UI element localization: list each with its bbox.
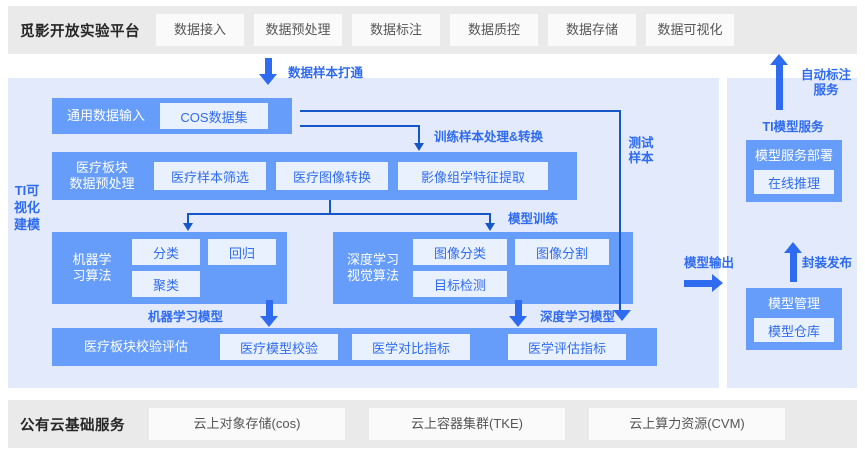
model-service-deploy-box[interactable]: 模型服务部署 在线推理: [746, 140, 842, 202]
tile-image-classification[interactable]: 图像分类: [413, 239, 507, 265]
tile-image-segmentation[interactable]: 图像分割: [515, 239, 609, 265]
connector-split-bar: [187, 213, 491, 215]
tile-regression[interactable]: 回归: [208, 239, 276, 265]
connector-test-sample-arrow: [613, 310, 631, 321]
chip-data-ingest[interactable]: 数据接入: [156, 14, 244, 46]
connector-dl-model-arrow: [509, 316, 527, 327]
tile-medical-sample-filter[interactable]: 医疗样本筛选: [154, 162, 266, 190]
connector-split-left-arrow: [183, 223, 193, 231]
ml-algorithm-label: 机器学 习算法: [52, 252, 132, 284]
connector-publish-stem: [790, 252, 797, 282]
general-data-input-box[interactable]: 通用数据输入 COS数据集: [52, 98, 292, 134]
chip-data-storage[interactable]: 数据存储: [548, 14, 636, 46]
connector-data-entry-arrow: [259, 74, 277, 85]
chip-data-preprocess[interactable]: 数据预处理: [254, 14, 342, 46]
caption-test-sample: 测试样本: [628, 136, 654, 166]
connector-test-sample-v: [619, 110, 621, 313]
connector-train-sample-h: [300, 125, 420, 127]
chip-cloud-object-storage[interactable]: 云上对象存储(cos): [149, 408, 345, 440]
general-data-input-label: 通用数据输入: [52, 108, 160, 124]
top-platform-bar: 觅影开放实验平台 数据接入 数据预处理 数据标注 数据质控 数据存储 数据可视化: [8, 6, 857, 54]
tile-medical-model-validation[interactable]: 医疗模型校验: [220, 334, 338, 360]
connector-model-output-stem: [684, 280, 712, 287]
connector-test-sample-h: [300, 110, 621, 112]
chip-data-annotation[interactable]: 数据标注: [352, 14, 440, 46]
connector-auto-label-arrow: [770, 54, 788, 65]
platform-title: 觅影开放实验平台: [8, 20, 140, 41]
tile-online-inference[interactable]: 在线推理: [754, 170, 834, 194]
ti-model-service-title: TI模型服务: [738, 120, 848, 135]
model-manage-box[interactable]: 模型管理 模型仓库: [746, 288, 842, 350]
tile-radiomics-feature-extraction[interactable]: 影像组学特征提取: [398, 162, 548, 190]
tile-medical-comparison-index[interactable]: 医学对比指标: [352, 334, 470, 360]
bottom-cloud-bar: 公有云基础服务 云上对象存储(cos) 云上容器集群(TKE) 云上算力资源(C…: [8, 400, 857, 448]
caption-model-output: 模型输出: [684, 256, 734, 271]
chip-data-quality[interactable]: 数据质控: [450, 14, 538, 46]
dl-algorithm-box[interactable]: 深度学习 视觉算法 图像分类 图像分割 目标检测: [333, 232, 633, 304]
caption-model-training: 模型训练: [508, 212, 558, 227]
tile-object-detection[interactable]: 目标检测: [413, 271, 507, 297]
medical-preprocess-label: 医疗板块 数据预处理: [52, 160, 152, 192]
connector-split-stem: [329, 200, 331, 214]
connector-model-output-arrow: [712, 274, 723, 292]
bottom-chip-list: 云上对象存储(cos) 云上容器集群(TKE) 云上算力资源(CVM): [149, 408, 785, 440]
connector-split-right-arrow: [485, 223, 495, 231]
top-chip-list: 数据接入 数据预处理 数据标注 数据质控 数据存储 数据可视化: [156, 14, 734, 46]
medical-evaluation-label: 医疗板块校验评估: [52, 339, 220, 355]
tile-model-repository[interactable]: 模型仓库: [754, 318, 834, 342]
model-service-deploy-label: 模型服务部署: [755, 148, 833, 164]
connector-train-sample-v: [418, 125, 420, 145]
ti-modeling-side-label: TI可视化建模: [14, 182, 40, 233]
caption-auto-label-service: 自动标注 服务: [792, 68, 860, 98]
medical-preprocess-box[interactable]: 医疗板块 数据预处理 医疗样本筛选 医疗图像转换 影像组学特征提取: [52, 152, 577, 200]
model-manage-label: 模型管理: [768, 296, 820, 312]
tile-classification[interactable]: 分类: [132, 239, 200, 265]
tile-medical-image-convert[interactable]: 医疗图像转换: [276, 162, 388, 190]
connector-train-sample-arrow: [414, 143, 424, 151]
cloud-services-title: 公有云基础服务: [8, 414, 125, 435]
caption-train-sample-process: 训练样本处理&转换: [434, 130, 543, 145]
medical-evaluation-box[interactable]: 医疗板块校验评估 医疗模型校验 医学对比指标 医学评估指标: [52, 328, 657, 366]
ml-algorithm-box[interactable]: 机器学 习算法 分类 回归 聚类: [52, 232, 287, 304]
connector-auto-label-stem: [776, 64, 783, 110]
caption-data-sample-link: 数据样本打通: [288, 66, 363, 81]
tile-cos-dataset[interactable]: COS数据集: [160, 103, 268, 129]
tile-clustering[interactable]: 聚类: [132, 271, 200, 297]
tile-medical-evaluation-index[interactable]: 医学评估指标: [508, 334, 626, 360]
caption-dl-model: 深度学习模型: [540, 310, 615, 325]
diagram-canvas: 觅影开放实验平台 数据接入 数据预处理 数据标注 数据质控 数据存储 数据可视化…: [0, 0, 865, 454]
dl-algorithm-label: 深度学习 视觉算法: [333, 252, 413, 284]
chip-cloud-compute-resource[interactable]: 云上算力资源(CVM): [589, 408, 785, 440]
connector-ml-model-arrow: [260, 316, 278, 327]
caption-package-publish: 封装发布: [802, 256, 852, 271]
connector-publish-arrow: [784, 242, 802, 253]
chip-data-visualization[interactable]: 数据可视化: [646, 14, 734, 46]
caption-ml-model: 机器学习模型: [148, 310, 223, 325]
chip-cloud-container-cluster[interactable]: 云上容器集群(TKE): [369, 408, 565, 440]
